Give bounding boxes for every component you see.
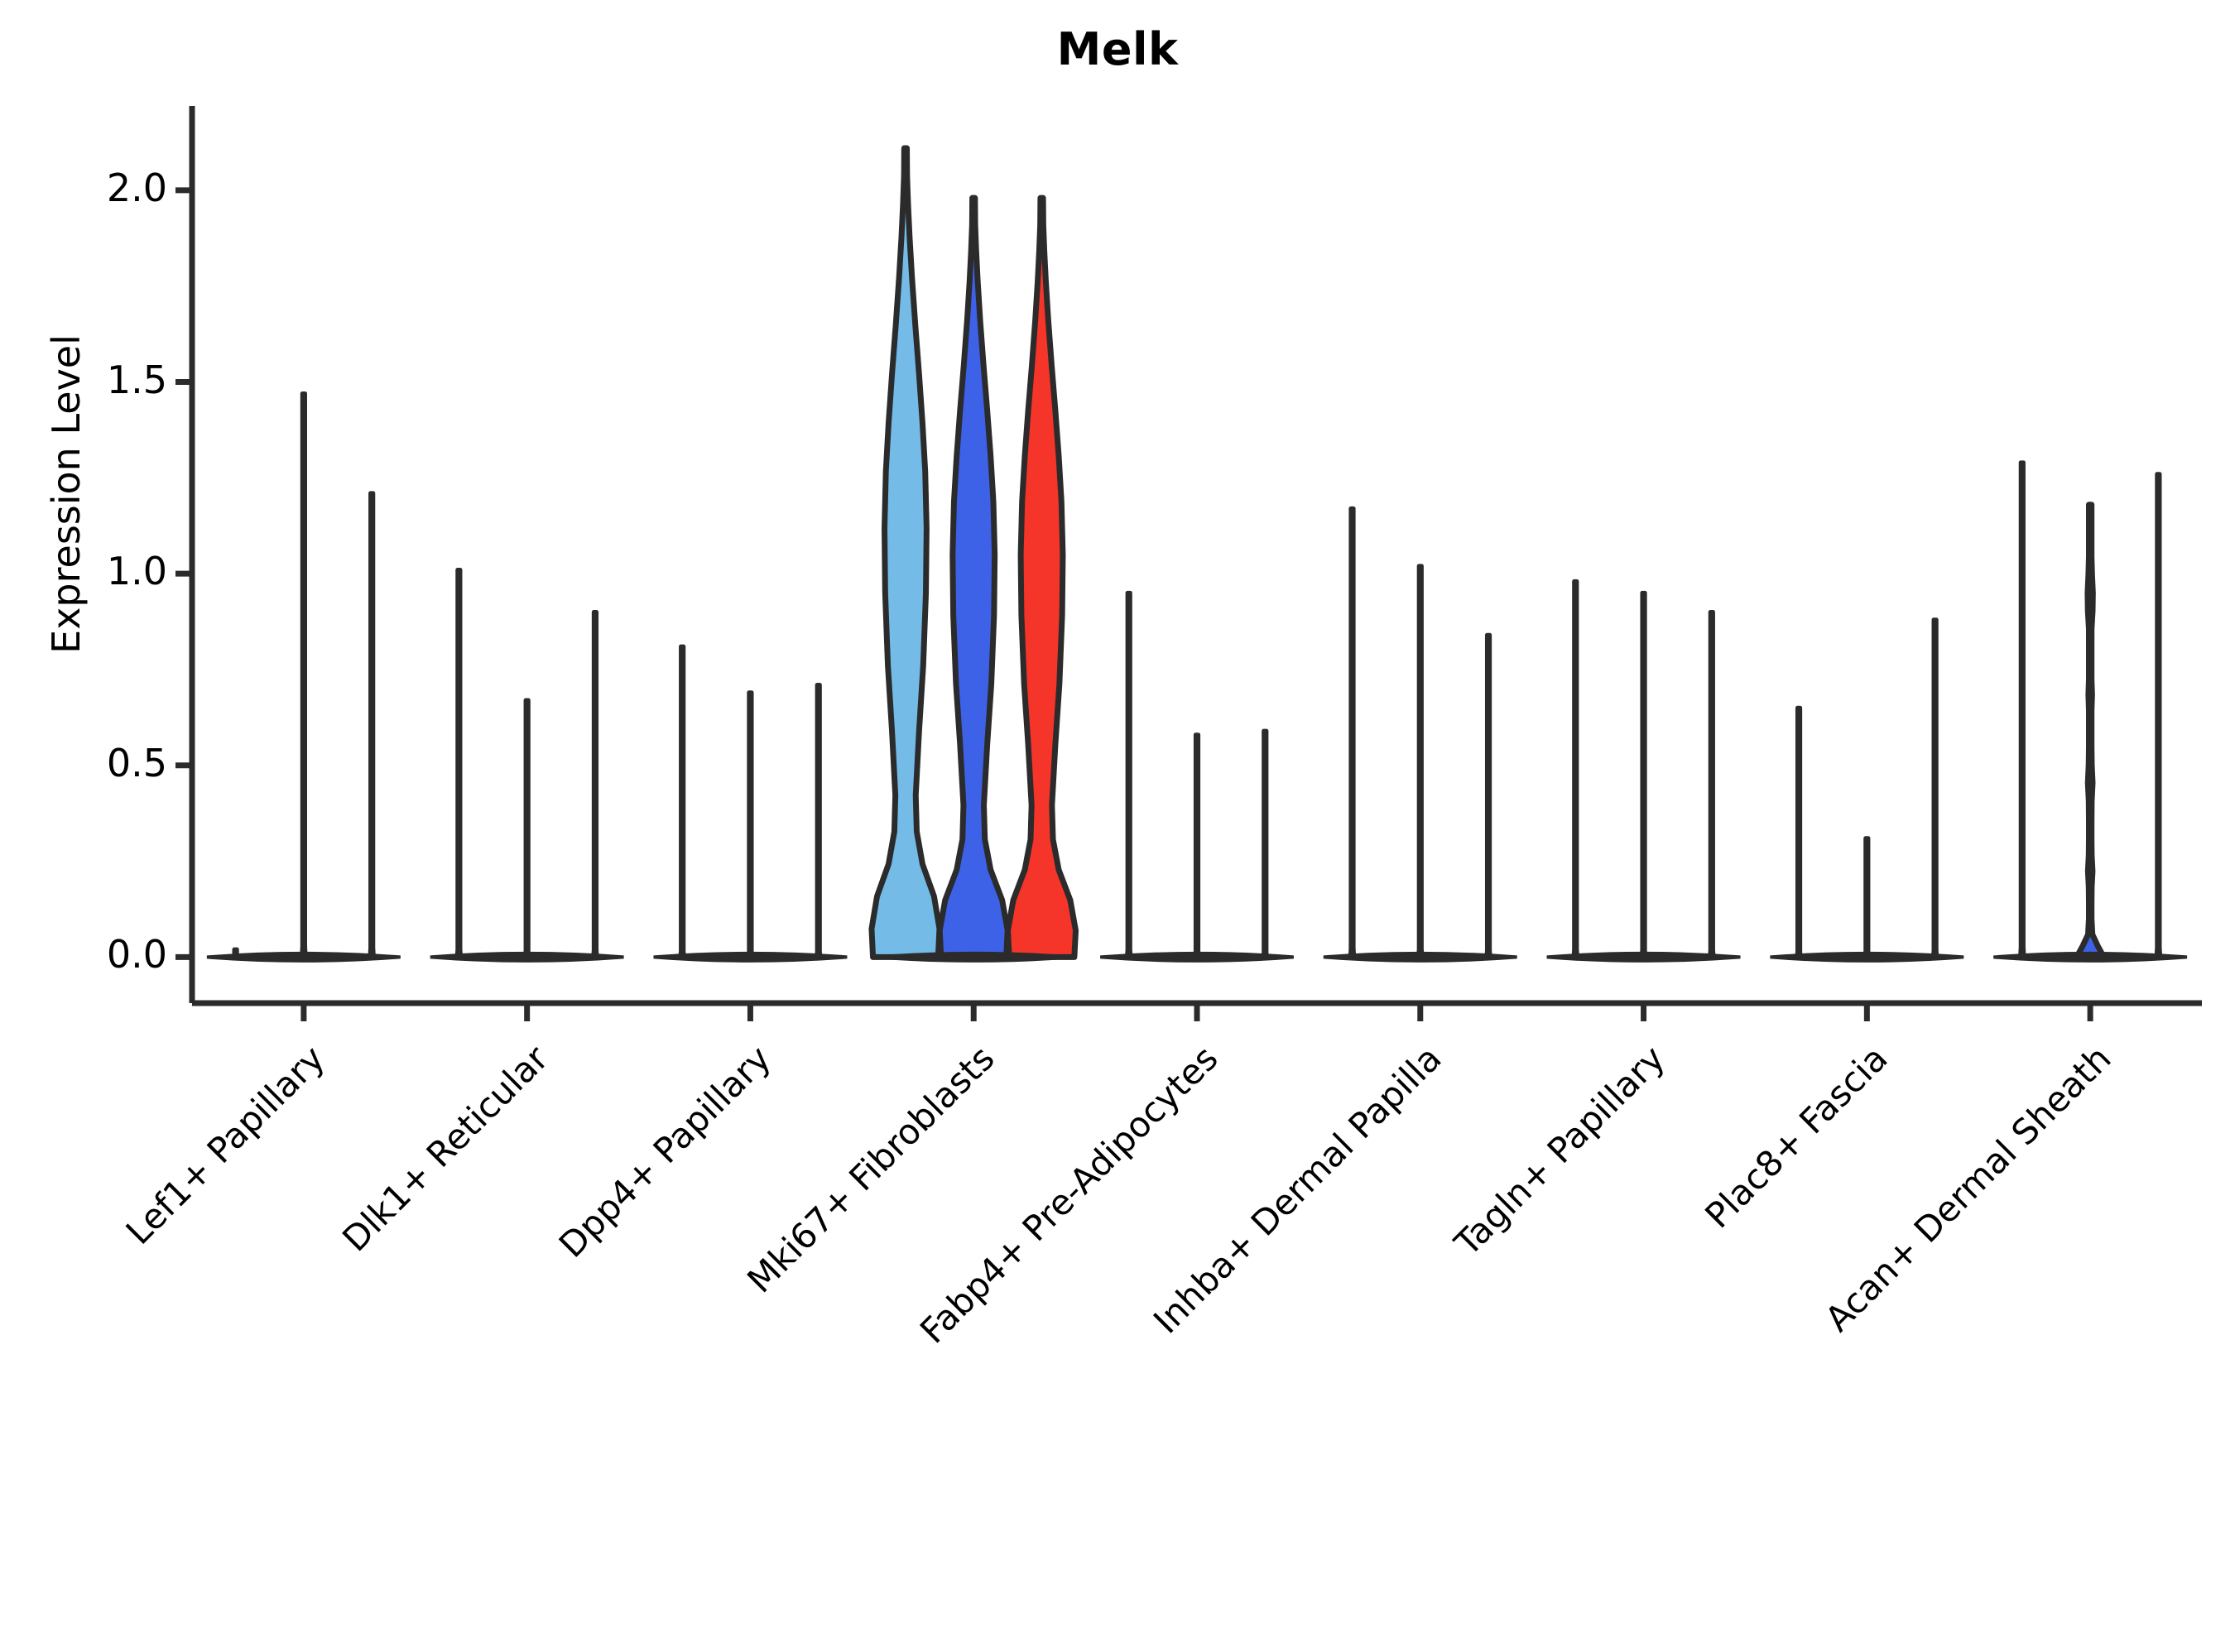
violin-shape: [1350, 508, 1354, 957]
violin-group-2: [654, 646, 848, 961]
violin-shape: [1865, 838, 1869, 958]
violin-shape: [816, 685, 820, 958]
violin-baseline: [1993, 953, 2187, 961]
violin-baseline: [654, 953, 848, 961]
violin-shape: [748, 693, 752, 958]
violin-baseline: [207, 953, 401, 961]
violin-group-7: [1771, 620, 1964, 961]
violin-shape: [370, 493, 374, 958]
axis-layer: [175, 106, 2202, 1021]
violin-shape: [1797, 708, 1801, 957]
violin-shape: [1641, 593, 1646, 957]
violin-group-8: [1993, 463, 2187, 961]
violin-shape: [940, 198, 1007, 957]
violin-group-6: [1547, 581, 1741, 960]
violin-shape: [594, 612, 598, 957]
violin-group-1: [430, 570, 624, 961]
y-tick-label: 2.0: [43, 166, 167, 210]
violin-baseline: [1100, 953, 1294, 961]
violin-shape: [302, 393, 306, 957]
violin-shape: [1487, 635, 1491, 957]
violin-shape: [2021, 463, 2025, 958]
violin-shape: [1933, 620, 1937, 958]
violin-shape: [680, 646, 685, 957]
violin-plot-figure: Melk Expression Level 0.00.51.01.52.0 Le…: [0, 0, 2235, 1490]
violin-baseline: [430, 953, 624, 961]
violin-shape: [2156, 474, 2160, 958]
y-tick-label: 1.0: [43, 549, 167, 593]
violin-shape: [457, 570, 461, 958]
violin-group-0: [207, 393, 401, 960]
violin-shape: [872, 148, 940, 957]
violin-shape: [2077, 505, 2104, 958]
violin-shape: [1710, 612, 1714, 957]
violin-shape: [1419, 566, 1423, 958]
y-tick-label: 1.5: [43, 358, 167, 402]
violin-baseline: [1547, 953, 1741, 961]
violin-shape: [1574, 581, 1578, 957]
violin-shape: [1263, 731, 1267, 957]
violin-baseline: [877, 953, 1070, 961]
violin-group-5: [1324, 508, 1517, 960]
violin-shape: [525, 700, 529, 957]
violin-group-4: [1100, 593, 1294, 961]
violin-shape: [1008, 198, 1076, 957]
violin-shape: [1195, 735, 1199, 958]
violin-shape: [1127, 593, 1131, 957]
y-tick-label: 0.5: [43, 741, 167, 785]
y-tick-label: 0.0: [43, 932, 167, 977]
violin-baseline: [1324, 953, 1517, 961]
violin-group-3: [872, 148, 1076, 961]
violin-layer: [207, 148, 2187, 961]
violin-baseline: [1771, 953, 1964, 961]
